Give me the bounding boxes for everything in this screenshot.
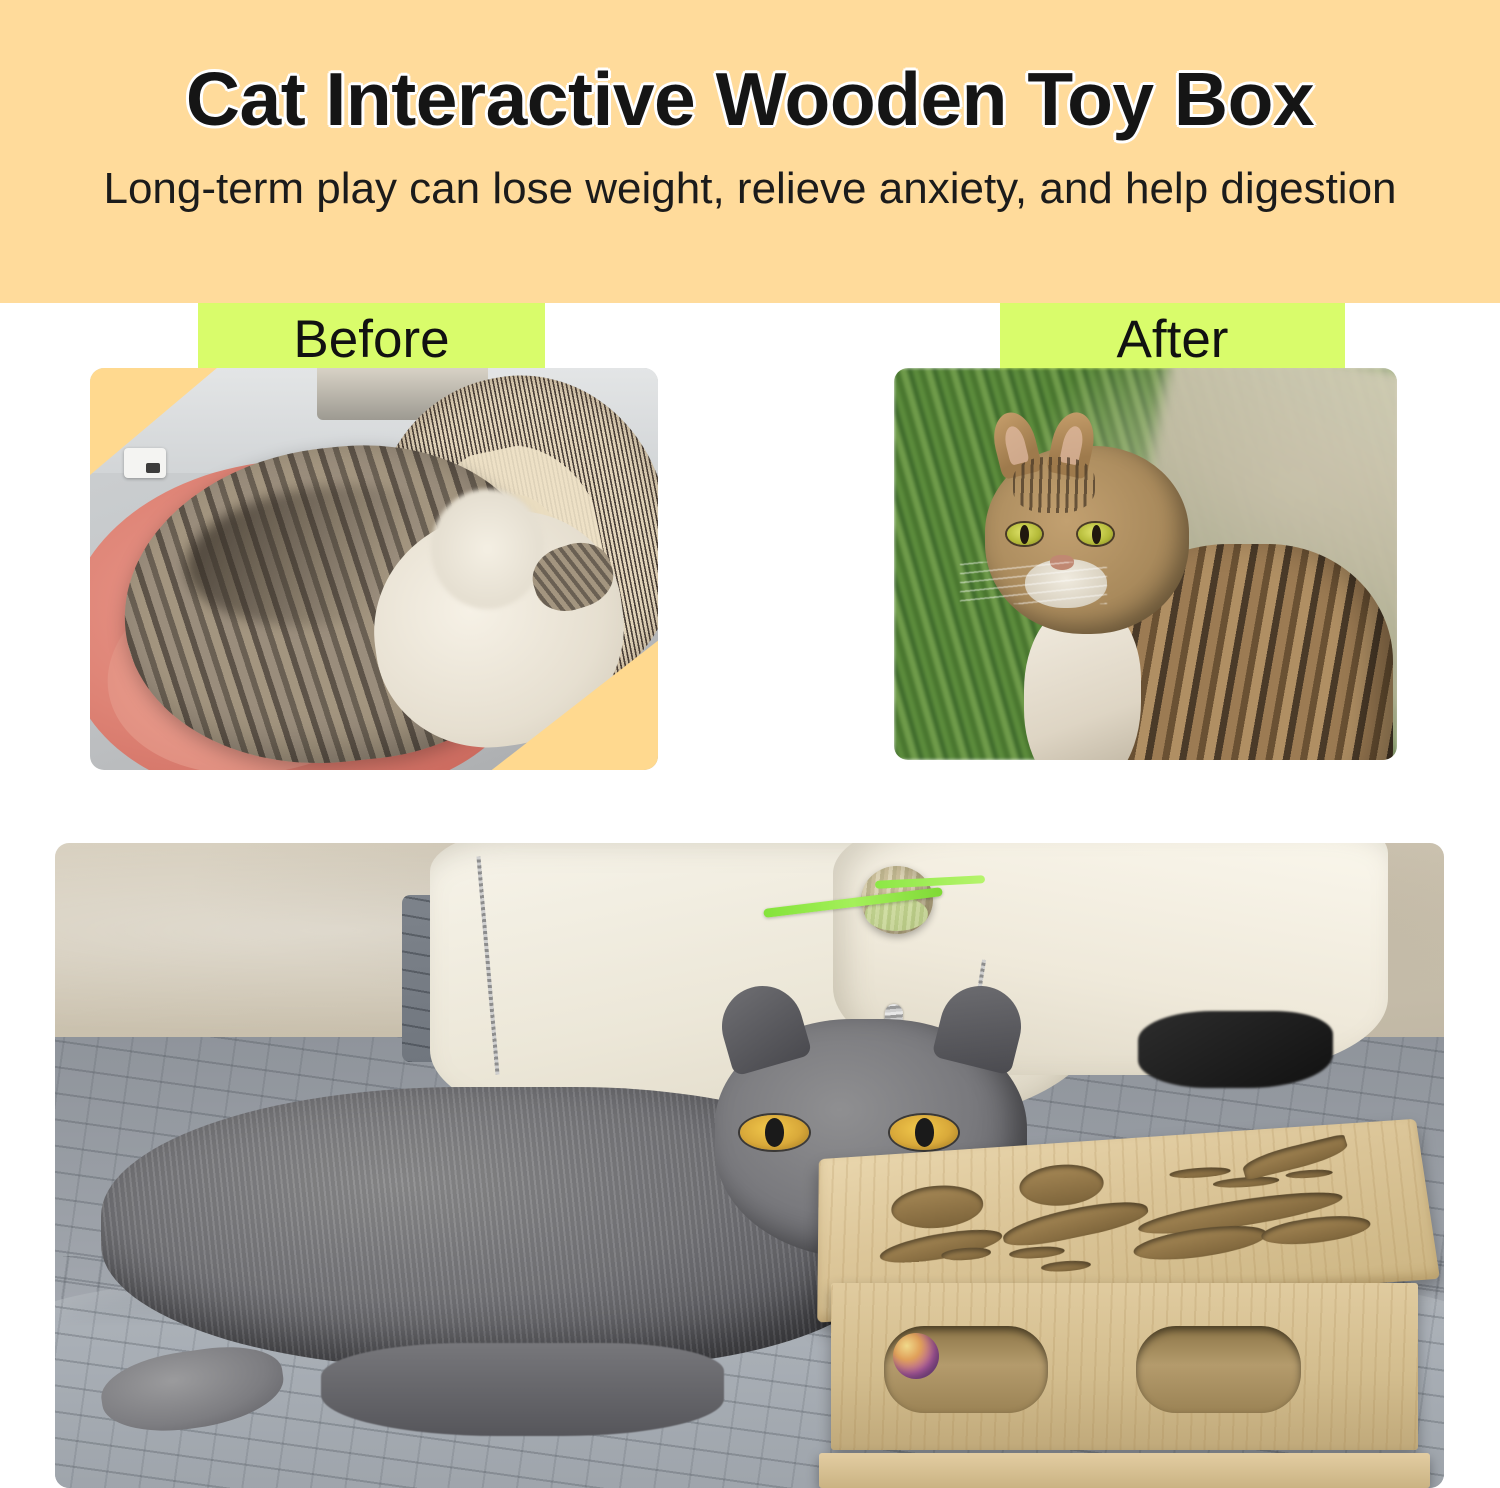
after-label-bar: After [1000,303,1345,375]
cat-white-patch [431,489,545,610]
cat-eye-left [1007,523,1042,546]
before-scene [90,368,658,770]
cat-eye-right [1078,523,1113,546]
cat-front-paw [97,1339,289,1440]
toy-box-base [819,1453,1430,1488]
before-label-bar: Before [198,303,545,375]
cat-front-leg [321,1343,724,1437]
after-scene [894,368,1397,760]
main-scene [55,843,1444,1488]
slim-cat [985,431,1377,760]
colorful-play-ball [893,1333,939,1379]
after-photo [894,368,1397,760]
wooden-toy-box [819,1136,1430,1484]
toy-box-front-panel [831,1283,1418,1450]
page-subtitle: Long-term play can lose weight, relieve … [103,164,1396,214]
before-label-text: Before [293,313,449,366]
cat-eye-left [740,1115,809,1151]
cat-head [985,446,1189,634]
before-photo [90,368,658,770]
main-product-photo [55,843,1444,1488]
page-title: Cat Interactive Wooden Toy Box [186,56,1314,142]
dark-cloth [1138,1011,1332,1088]
front-hole-right [1136,1326,1300,1413]
header-banner: Cat Interactive Wooden Toy Box Long-term… [0,0,1500,303]
cat-forehead-stripes [1013,457,1095,513]
after-label-text: After [1117,313,1229,366]
cat-whiskers [960,562,1107,603]
floor-tag-object [124,448,166,478]
